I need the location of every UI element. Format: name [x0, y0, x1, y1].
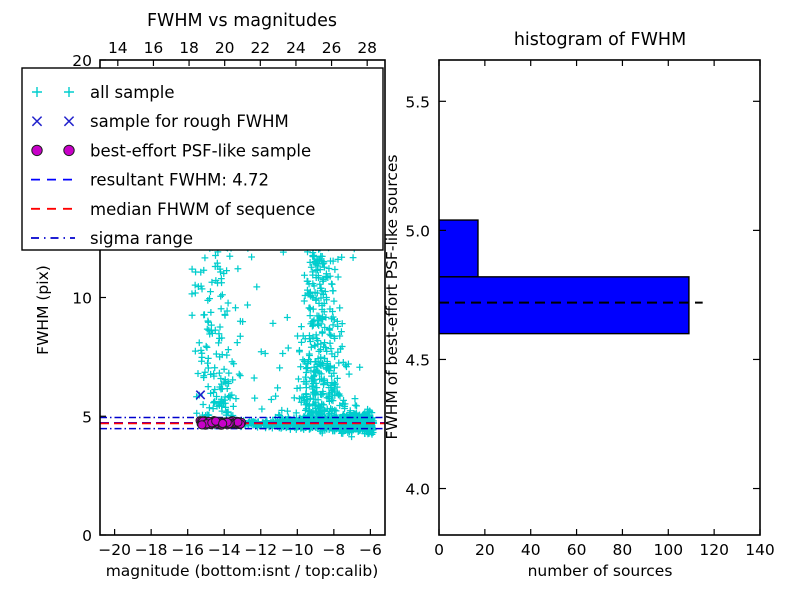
legend-marker-circle-icon — [32, 145, 42, 155]
legend-entry-label: sample for rough FWHM — [90, 112, 289, 131]
right-x-tick-label: 120 — [699, 541, 729, 559]
left-y-tick-label: 5 — [82, 408, 92, 426]
left-x-bottom-tick-label: −10 — [281, 541, 314, 559]
left-x-bottom-tick-label: −16 — [171, 541, 204, 559]
left-x-top-tick-label: 24 — [286, 39, 306, 57]
right-x-tick-label: 100 — [653, 541, 683, 559]
right-x-tick-label: 140 — [745, 541, 775, 559]
psf-like-marker — [234, 418, 242, 426]
left-x-bottom-tick-label: −20 — [98, 541, 131, 559]
legend-marker-circle-icon — [64, 145, 74, 155]
right-y-tick-label: 4.5 — [405, 351, 430, 369]
left-x-top-tick-label: 26 — [322, 39, 342, 57]
left-x-bottom-tick-label: −18 — [135, 541, 168, 559]
right-x-tick-label: 80 — [613, 541, 633, 559]
legend-entry-label: median FHWM of sequence — [90, 200, 315, 219]
right-xlabel: number of sources — [528, 562, 673, 580]
left-x-top-tick-label: 18 — [179, 39, 199, 57]
left-x-top-tick-label: 14 — [108, 39, 128, 57]
right-panel-histogram: histogram of FWHM 020406080100120140 4.0… — [383, 30, 775, 580]
right-y-tick-label: 4.0 — [405, 481, 430, 499]
right-y-tick-label: 5.5 — [405, 93, 430, 111]
left-y-tick-label: 10 — [72, 290, 92, 308]
psf-like-marker — [219, 419, 227, 427]
left-xlabel: magnitude (bottom:isnt / top:calib) — [106, 562, 379, 580]
left-x-top-tick-label: 20 — [215, 39, 235, 57]
histogram-bar — [439, 220, 478, 277]
right-panel-title: histogram of FWHM — [514, 30, 686, 50]
legend-entry-label: all sample — [90, 83, 175, 102]
left-ylabel: FWHM (pix) — [34, 265, 52, 355]
matplotlib-figure: FWHM vs magnitudes — [0, 0, 800, 600]
histogram-bar — [439, 277, 689, 334]
legend-entry-label: best-effort PSF-like sample — [90, 141, 311, 160]
right-y-tick-label: 5.0 — [405, 222, 430, 240]
left-x-bottom-tick-label: −6 — [359, 541, 382, 559]
left-x-top-tick-label: 16 — [144, 39, 164, 57]
right-ylabel: FWHM of best-effort PSF-like sources — [383, 154, 401, 439]
right-x-tick-label: 60 — [567, 541, 587, 559]
right-x-tick-label: 40 — [521, 541, 541, 559]
left-x-top-tick-label: 22 — [250, 39, 270, 57]
psf-like-points — [196, 416, 246, 429]
left-x-bottom-tick-label: −8 — [322, 541, 345, 559]
legend: all samplesample for rough FWHMbest-effo… — [22, 68, 383, 250]
left-x-bottom-tick-label: −14 — [208, 541, 241, 559]
right-x-tick-label: 0 — [434, 541, 444, 559]
psf-like-marker — [198, 421, 206, 429]
left-y-tick-label: 0 — [82, 527, 92, 545]
left-x-top-tick-label: 28 — [357, 39, 377, 57]
legend-entry-label: sigma range — [90, 229, 193, 248]
right-x-tick-label: 20 — [475, 541, 495, 559]
legend-entry-label: resultant FWHM: 4.72 — [90, 171, 269, 190]
left-panel-title: FWHM vs magnitudes — [147, 11, 337, 31]
left-x-bottom-tick-label: −12 — [244, 541, 277, 559]
figure-canvas: FWHM vs magnitudes — [0, 0, 800, 600]
